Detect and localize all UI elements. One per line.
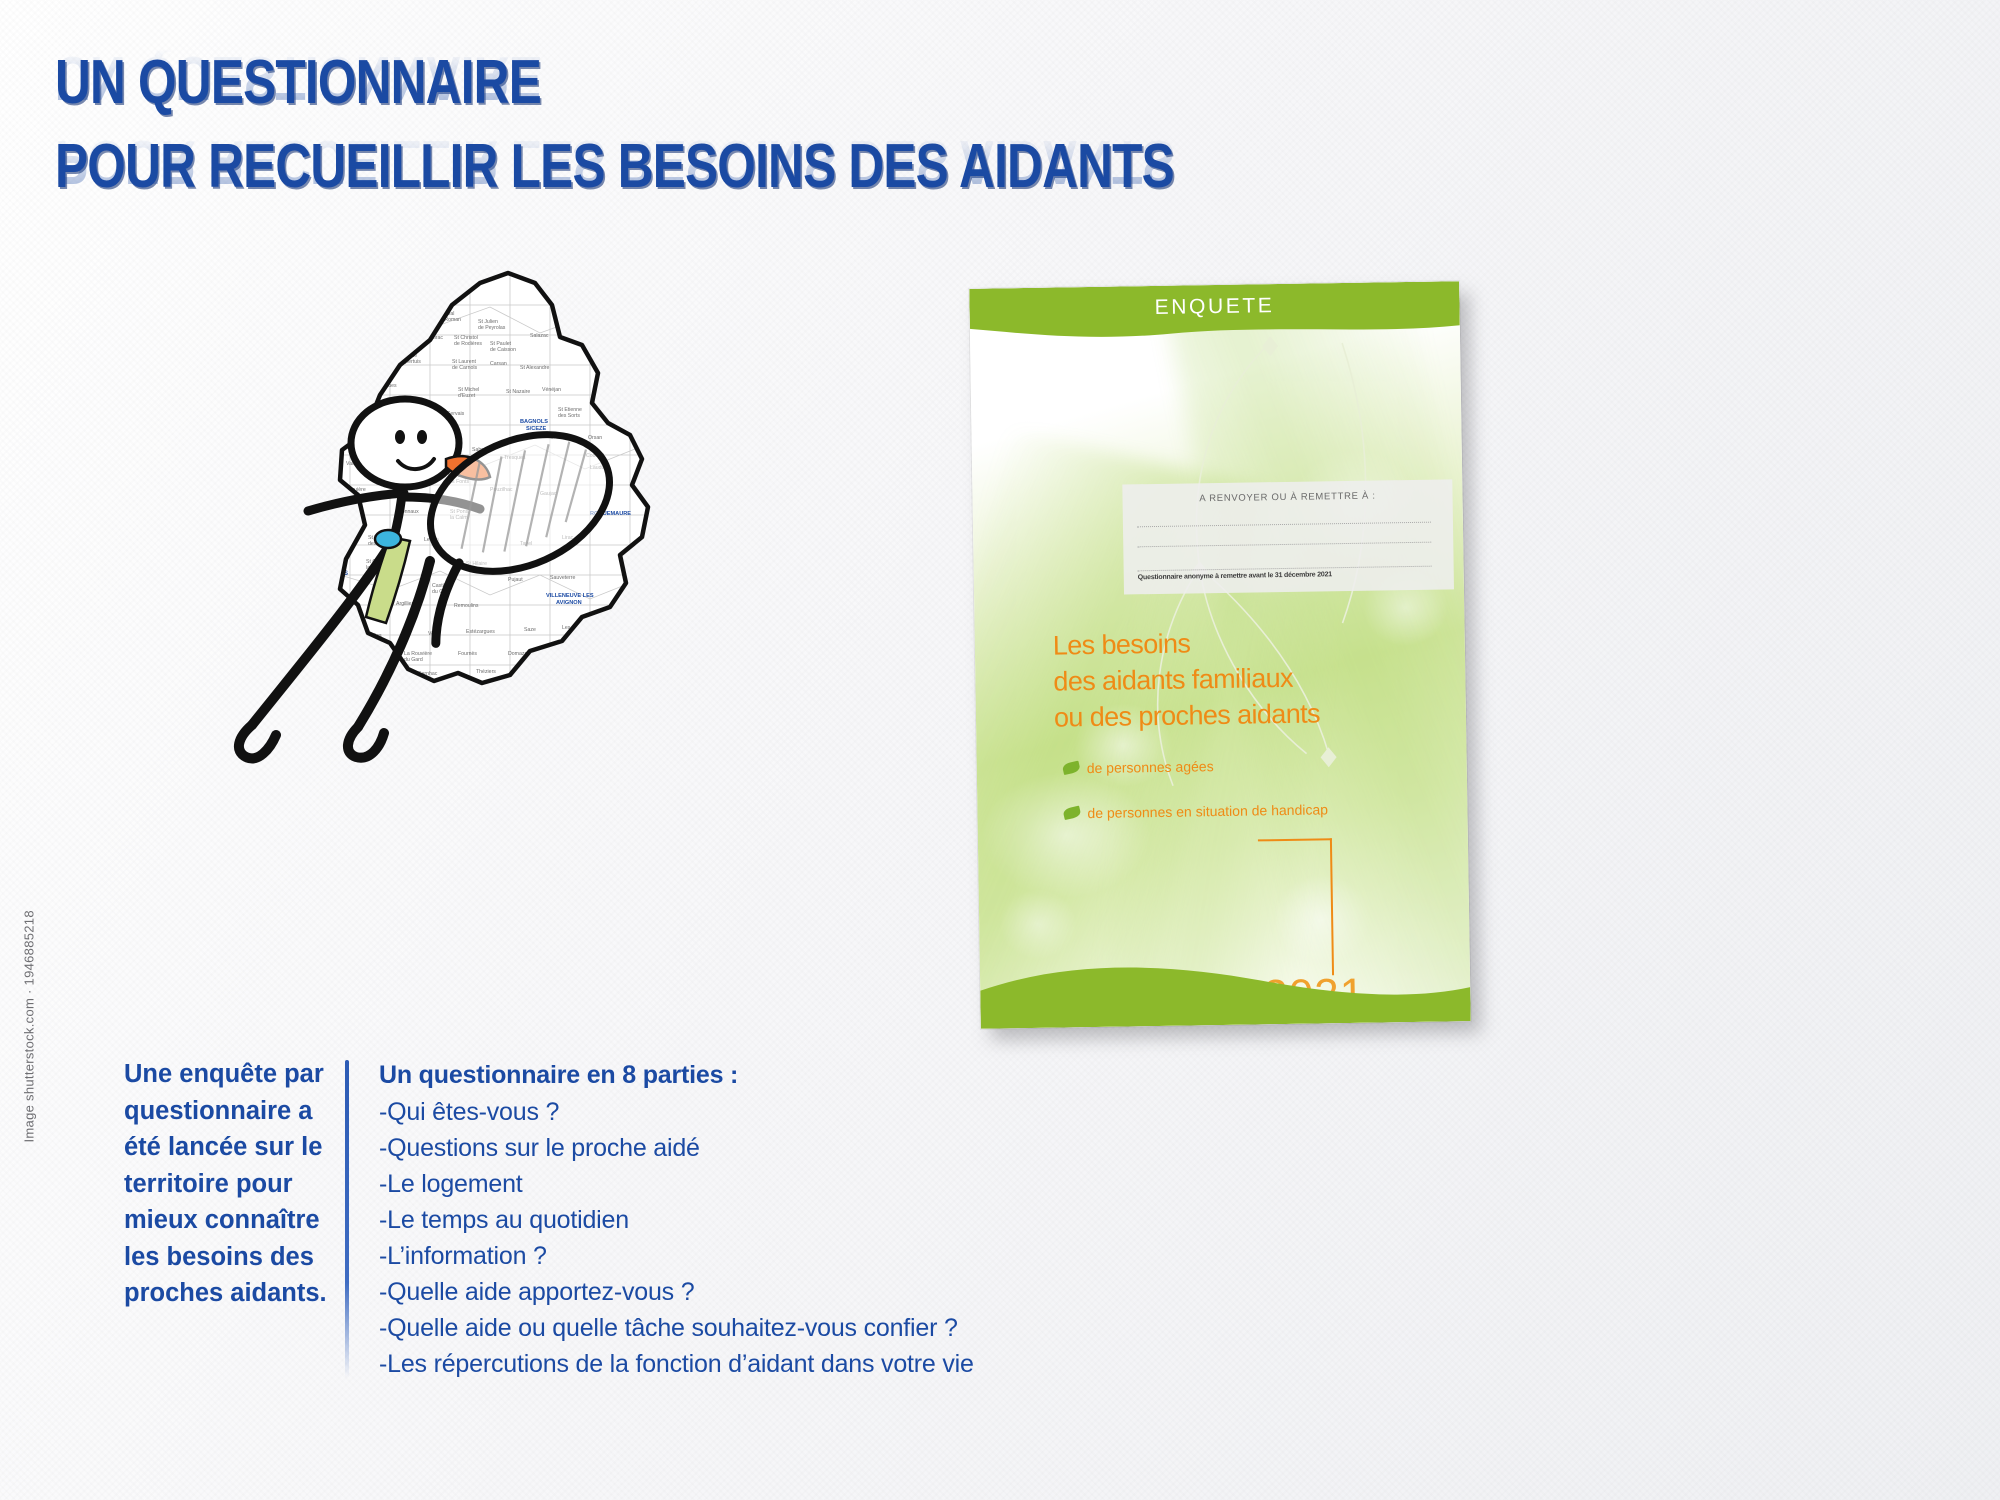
title-line-2-reflection: POUR RECUEILLIR LES BESOINS DES AIDANTS: [55, 130, 1174, 192]
cover-title-line-2: des aidants familiaux: [1053, 658, 1384, 699]
svg-text:St Alexandre: St Alexandre: [520, 365, 550, 371]
svg-text:VILLENEUVE LES: VILLENEUVE LES: [546, 593, 594, 599]
svg-text:et Aureillac: et Aureillac: [286, 613, 312, 619]
list-item: -Qui êtes-vous ?: [379, 1094, 979, 1130]
list-heading: Un questionnaire en 8 parties :: [379, 1056, 979, 1094]
svg-text:des Sorts: des Sorts: [558, 413, 580, 419]
return-address-box: A RENVOYER OU À REMETTRE À : Questionnai…: [1122, 479, 1454, 594]
return-address-note: Questionnaire anonyme à remettre avant l…: [1138, 571, 1332, 581]
list-item: -Questions sur le proche aidé: [379, 1130, 979, 1166]
list-item: -Les répercutions de la fonction d’aidan…: [379, 1346, 979, 1382]
svg-text:Orsan: Orsan: [588, 435, 602, 441]
svg-text:de Caisson: de Caisson: [490, 347, 516, 353]
svg-text:Pons sur: Pons sur: [336, 407, 357, 413]
svg-text:Montclus: Montclus: [396, 333, 417, 339]
svg-text:d'Euzet: d'Euzet: [458, 393, 476, 399]
svg-text:Saze: Saze: [524, 627, 536, 633]
brochure-footer-wave: [980, 943, 1471, 1029]
svg-text:Le Garn: Le Garn: [416, 303, 435, 309]
cover-title-line-1: Les besoins: [1053, 622, 1384, 663]
svg-text:BAGNOLS: BAGNOLS: [520, 419, 548, 425]
svg-text:Montfrin: Montfrin: [482, 693, 501, 699]
cover-bullet: de personnes agées: [1087, 755, 1214, 779]
list-item: -Le temps au quotidien: [379, 1202, 979, 1238]
svg-text:Théziers: Théziers: [476, 669, 496, 675]
svg-text:St Médiers: St Médiers: [306, 567, 331, 573]
brochure-cover-title: Les besoins des aidants familiaux ou des…: [1053, 622, 1385, 735]
title-line-2-wrap: POUR RECUEILLIR LES BESOINS DES AIDANTS …: [55, 136, 1455, 214]
column-divider: [345, 1060, 349, 1378]
svg-text:Fournès: Fournès: [458, 651, 477, 657]
address-dotted-line: [1137, 522, 1431, 529]
svg-text:de Rodières: de Rodières: [454, 341, 482, 347]
svg-text:du Gard: du Gard: [404, 657, 423, 663]
svg-text:Meynes: Meynes: [426, 695, 445, 701]
title-line-1-reflection: UN QUESTIONNAIRE: [55, 46, 541, 108]
svg-text:Pujaut: Pujaut: [508, 577, 523, 583]
svg-text:Aigaliers: Aigaliers: [318, 537, 338, 543]
svg-text:AVIGNON: AVIGNON: [556, 600, 582, 606]
list-item: -Le logement: [379, 1166, 979, 1202]
map-mascot-illustration: AiguèzeLe GarnLaval St RomanSt Juliende …: [190, 245, 750, 785]
svg-text:Montaren et: Montaren et: [306, 561, 334, 567]
cover-title-line-3: ou des proches aidants: [1054, 694, 1385, 735]
svg-text:Arpaillargues: Arpaillargues: [286, 607, 317, 613]
cover-bullet-label: de personnes agées: [1087, 758, 1214, 776]
svg-text:Lussan: Lussan: [336, 413, 353, 419]
title-line-1-wrap: UN QUESTIONNAIRE UN QUESTIONNAIRE: [55, 52, 1455, 130]
svg-text:St Nazaire: St Nazaire: [506, 389, 530, 395]
svg-text:Remoulins: Remoulins: [454, 603, 479, 609]
list-item: -Quelle aide ou quelle tâche souhaitez-v…: [379, 1310, 979, 1346]
svg-text:Carsan: Carsan: [490, 361, 507, 367]
list-item: -Quelle aide apportez-vous ?: [379, 1274, 979, 1310]
cover-bullet: de personnes en situation de handicap: [1087, 798, 1328, 824]
svg-text:de Carnols: de Carnols: [452, 365, 477, 371]
cover-bullet-label: de personnes en situation de handicap: [1087, 801, 1328, 821]
svg-text:de Peyrolas: de Peyrolas: [478, 325, 506, 331]
svg-text:Sauveterre: Sauveterre: [550, 575, 575, 581]
svg-text:Serviers: Serviers: [298, 583, 317, 589]
svg-text:Salazac: Salazac: [530, 333, 549, 339]
svg-text:et Labaume: et Labaume: [298, 589, 326, 595]
page-title: UN QUESTIONNAIRE UN QUESTIONNAIRE POUR R…: [55, 52, 1455, 220]
return-address-title: A RENVOYER OU À REMETTRE À :: [1122, 489, 1452, 505]
svg-text:Estézargues: Estézargues: [466, 629, 495, 635]
list-item: -L’information ?: [379, 1238, 979, 1274]
intro-paragraph: Une enquête par questionnaire a été lanc…: [124, 1056, 339, 1312]
stock-image-credit: Image shutterstock.com · 1946885218: [22, 913, 37, 1143]
brochure-cover: ENQUETE A RENVOYER OU À REMETTRE À : Que…: [969, 281, 1471, 1029]
questionnaire-parts-list: Un questionnaire en 8 parties : -Qui ête…: [379, 1056, 979, 1382]
svg-text:Dions: Dions: [354, 657, 368, 663]
svg-text:Aramon: Aramon: [526, 671, 544, 677]
svg-text:Vénéjan: Vénéjan: [542, 387, 561, 393]
address-dotted-line: [1137, 542, 1431, 549]
